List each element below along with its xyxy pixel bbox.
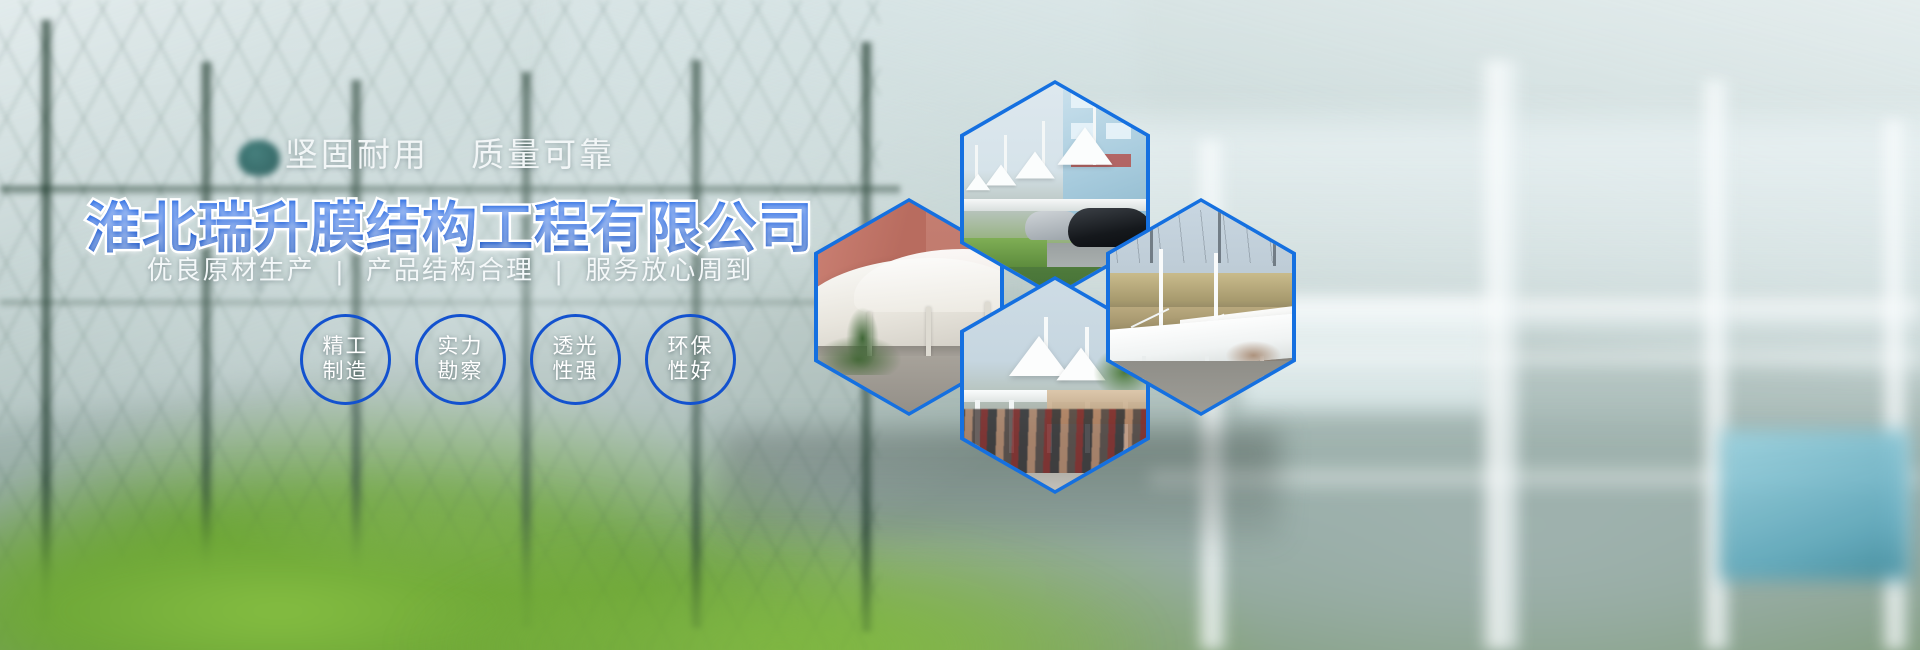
feature-circle-3-line2: 性强 (553, 360, 599, 385)
scene-bike-row (964, 409, 1146, 477)
scene-flat-pylon-3 (1273, 207, 1276, 265)
hexagon-photo-right[interactable] (1106, 198, 1296, 416)
subline-item-1: 优良原材生产 (147, 255, 315, 285)
hero-tagline: 坚固耐用 质量可靠 (0, 128, 900, 176)
feature-circle-1-line2: 制造 (323, 360, 369, 385)
feature-circle-2-line1: 实力 (438, 335, 484, 360)
feature-circle-1-line1: 精工 (323, 335, 369, 360)
feature-circle-survey[interactable]: 实力 勘察 (415, 314, 506, 405)
scene-blue-window-2 (1106, 93, 1131, 108)
hexagon-right-image (1110, 202, 1292, 412)
scene-bike-pavement (964, 473, 1146, 490)
feature-circle-3-line1: 透光 (553, 335, 599, 360)
scene-red-tree (846, 307, 880, 370)
feature-circle-4-line1: 环保 (668, 335, 714, 360)
feature-circle-craftsmanship[interactable]: 精工 制造 (300, 314, 391, 405)
tagline-left-text: 坚固耐用 (285, 136, 429, 173)
feature-circle-2-line2: 勘察 (438, 360, 484, 385)
scene-blue-cone-4 (966, 174, 990, 191)
scene-blue-cone-1 (1058, 127, 1113, 165)
scene-flat-pavement (1110, 361, 1292, 412)
scene-flat-tensile-roof (1110, 202, 1292, 412)
feature-circle-group: 精工 制造 实力 勘察 透光 性强 环保 性好 (300, 314, 736, 405)
scene-flat-mast-1 (1159, 249, 1163, 332)
subline-item-2: 产品结构合理 (366, 255, 534, 285)
hero-banner: 坚固耐用 质量可靠 淮北瑞升膜结构工程有限公司 淮北瑞升膜结构工程有限公司 优良… (0, 0, 1920, 650)
subline-separator-1: | (336, 256, 345, 287)
scene-blue-cone-3 (986, 164, 1017, 185)
feature-circle-translucency[interactable]: 透光 性强 (530, 314, 621, 405)
subline-item-3: 服务放心周到 (585, 255, 753, 285)
scene-flat-pylon-1 (1150, 202, 1153, 263)
subline-separator-2: | (555, 256, 564, 287)
hexagon-gallery (800, 80, 1320, 470)
tagline-right-text: 质量可靠 (471, 136, 615, 173)
scene-flat-overpass (1110, 273, 1292, 312)
feature-circle-eco[interactable]: 环保 性好 (645, 314, 736, 405)
hero-subline: 优良原材生产 | 产品结构合理 | 服务放心周到 (0, 250, 900, 287)
scene-blue-cone-2 (1015, 152, 1055, 179)
feature-circle-4-line2: 性好 (668, 360, 714, 385)
